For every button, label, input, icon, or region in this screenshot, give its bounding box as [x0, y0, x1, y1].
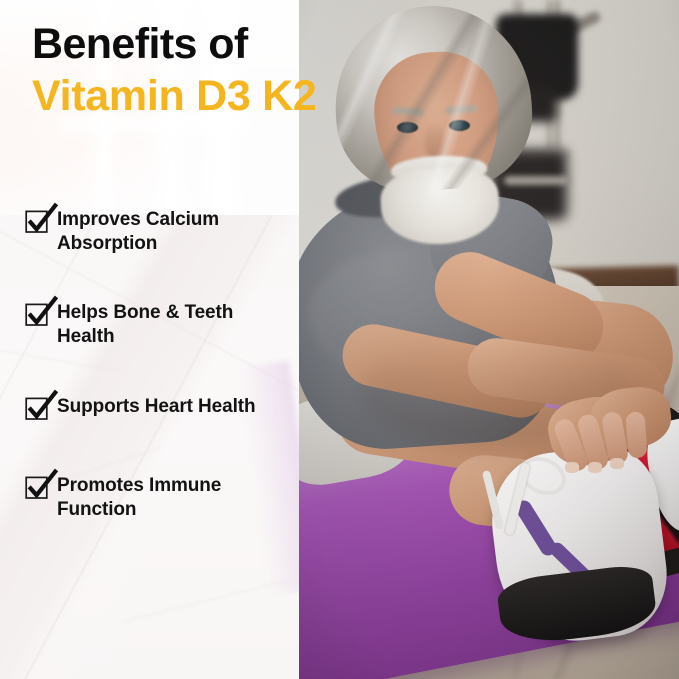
fingernail: [588, 462, 602, 473]
list-item: Improves Calcium Absorption: [26, 208, 288, 256]
checkbox-checked-icon: [26, 477, 47, 498]
checkbox-checked-icon: [26, 398, 47, 419]
list-item-label: Supports Heart Health: [57, 395, 256, 419]
list-item: Promotes Immune Function: [26, 474, 288, 522]
list-item: Helps Bone & Teeth Health: [26, 301, 288, 349]
gym-machine-bar: [504, 176, 570, 185]
infographic-canvas: Benefits of Vitamin D3 K2 Improves Calci…: [0, 0, 679, 679]
list-item-label: Helps Bone & Teeth Health: [57, 301, 288, 349]
checkbox-checked-icon: [26, 304, 47, 325]
finger: [625, 411, 647, 458]
headline-line-2: Vitamin D3 K2: [32, 74, 316, 120]
checkbox-checked-icon: [26, 211, 47, 232]
list-item-label: Improves Calcium Absorption: [57, 208, 288, 256]
headline-line-1: Benefits of: [32, 22, 316, 68]
list-item-label: Promotes Immune Function: [57, 474, 288, 522]
lifestyle-photo: [299, 0, 679, 679]
list-item: Supports Heart Health: [26, 395, 288, 419]
page-title: Benefits of Vitamin D3 K2: [32, 22, 316, 119]
fingernail: [565, 462, 579, 473]
fingernail: [610, 458, 624, 469]
